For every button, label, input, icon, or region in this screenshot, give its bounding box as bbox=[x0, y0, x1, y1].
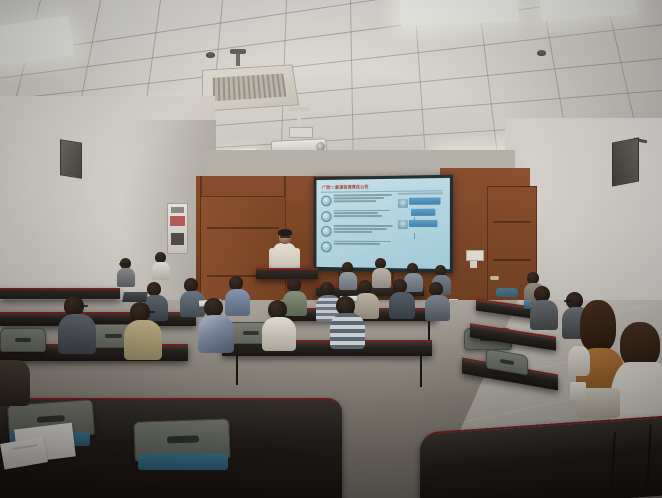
smoke-detector-icon bbox=[206, 52, 215, 58]
chair-seat[interactable] bbox=[138, 454, 228, 470]
bullet-circle-icon bbox=[321, 196, 331, 207]
slide-title: 广西□□能源有限责任公司 bbox=[322, 184, 368, 191]
desk-leg bbox=[236, 353, 238, 385]
slide-button bbox=[409, 220, 438, 227]
presenter-glasses-icon bbox=[280, 236, 291, 238]
wall-control-panel[interactable] bbox=[167, 203, 188, 254]
bullet-circle-icon bbox=[321, 211, 331, 222]
slide-left-column bbox=[321, 194, 393, 256]
glasses-icon bbox=[564, 300, 573, 302]
wall-plate[interactable] bbox=[466, 250, 484, 261]
building-icon bbox=[398, 199, 408, 208]
slide-button bbox=[409, 197, 441, 204]
laptop[interactable] bbox=[122, 292, 148, 302]
projection-screen: 广西□□能源有限责任公司 bbox=[316, 178, 449, 269]
control-panel-display bbox=[171, 233, 184, 245]
glasses-icon bbox=[80, 305, 88, 307]
bullet-circle-icon bbox=[321, 226, 331, 237]
ceiling-light-top-right bbox=[399, 0, 518, 26]
wall-speaker-left bbox=[60, 139, 82, 178]
front-lectern-desk bbox=[256, 268, 318, 279]
phone[interactable] bbox=[524, 300, 531, 309]
classroom-photo: 广西□□能源有限责任公司 bbox=[0, 0, 662, 498]
wall-speaker-right bbox=[612, 137, 639, 186]
slide-bullet-row bbox=[321, 194, 393, 208]
slide-bullet-row bbox=[321, 240, 393, 255]
slide-right-column bbox=[398, 192, 445, 231]
bullet-circle-icon bbox=[321, 241, 331, 252]
projector-mount bbox=[289, 127, 313, 138]
smoke-detector-icon bbox=[537, 50, 546, 56]
door-handle-icon[interactable] bbox=[490, 276, 499, 280]
control-panel-slot bbox=[171, 207, 184, 213]
slide-bullet-row bbox=[321, 209, 393, 223]
presenter-hair bbox=[278, 229, 292, 236]
cup[interactable] bbox=[570, 382, 586, 400]
ac-vent-cap bbox=[230, 49, 246, 54]
slide-bullet-row bbox=[321, 225, 393, 239]
data-icon bbox=[398, 220, 408, 229]
chair-back[interactable] bbox=[0, 328, 46, 352]
wall-plate-lower[interactable] bbox=[470, 261, 477, 268]
ceiling-ac-vent bbox=[202, 64, 300, 111]
blouse-sleeve bbox=[568, 346, 590, 376]
glasses-icon bbox=[147, 311, 155, 313]
slide-button bbox=[411, 209, 435, 216]
ac-vent-stem bbox=[236, 52, 240, 66]
control-panel-label bbox=[170, 216, 185, 226]
desk-row-back bbox=[0, 288, 120, 299]
desk-leg bbox=[420, 353, 422, 387]
chair-seat[interactable] bbox=[496, 288, 518, 297]
desk-leg bbox=[428, 318, 430, 342]
